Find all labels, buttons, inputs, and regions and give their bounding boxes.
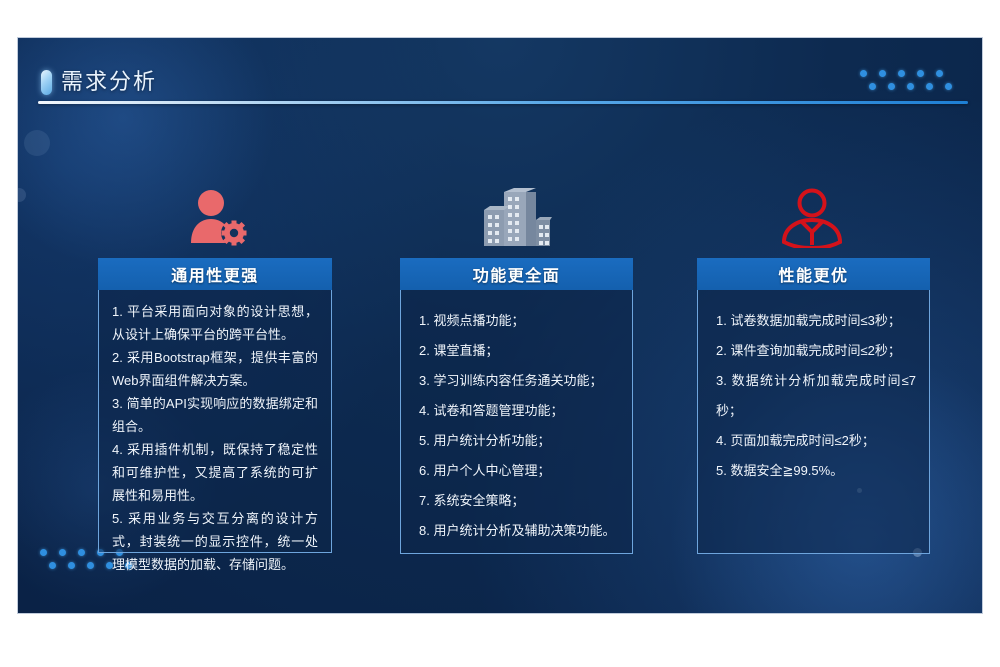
card-line: 1. 视频点播功能； — [419, 306, 619, 336]
grid-dot — [78, 549, 85, 556]
business-person-icon — [770, 186, 854, 248]
grid-dot — [879, 70, 886, 77]
card-line: 7. 系统安全策略； — [419, 486, 619, 516]
grid-dot — [926, 83, 933, 90]
grid-dot — [59, 549, 66, 556]
grid-dot — [869, 83, 876, 90]
page-title: 需求分析 — [61, 64, 157, 96]
grid-dot — [68, 562, 75, 569]
card-body: 1. 平台采用面向对象的设计思想，从设计上确保平台的跨平台性。 2. 采用Boo… — [99, 290, 331, 584]
card-line: 2. 课堂直播； — [419, 336, 619, 366]
card-line: 4. 采用插件机制，既保持了稳定性和可维护性，又提高了系统的可扩展性和易用性。 — [112, 438, 318, 507]
card-line: 5. 数据安全≧99.5%。 — [716, 456, 916, 486]
card-header: 功能更全面 — [400, 258, 633, 290]
feature-card-functionality: 功能更全面 1. 视频点播功能； 2. 课堂直播； 3. 学习训练内容任务通关功… — [400, 258, 633, 554]
grid-dot — [49, 562, 56, 569]
card-line: 4. 页面加载完成时间≤2秒； — [716, 426, 916, 456]
card-title: 性能更优 — [778, 262, 848, 286]
card-header: 通用性更强 — [98, 258, 332, 290]
card-line: 5. 用户统计分析功能； — [419, 426, 619, 456]
card-line: 3. 学习训练内容任务通关功能； — [419, 366, 619, 396]
card-line: 2. 采用Bootstrap框架，提供丰富的Web界面组件解决方案。 — [112, 346, 318, 392]
card-line: 2. 课件查询加载完成时间≤2秒； — [716, 336, 916, 366]
grid-dot — [945, 83, 952, 90]
card-body: 1. 试卷数据加载完成时间≤3秒； 2. 课件查询加载完成时间≤2秒； 3. 数… — [698, 290, 929, 494]
card-line: 1. 试卷数据加载完成时间≤3秒； — [716, 306, 916, 336]
pill-marker-icon — [41, 70, 52, 95]
presentation-slide: 需求分析 — [18, 38, 982, 613]
card-line: 6. 用户个人中心管理； — [419, 456, 619, 486]
card-line: 3. 简单的API实现响应的数据绑定和组合。 — [112, 392, 318, 438]
buildings-icon — [473, 186, 557, 248]
grid-dot — [898, 70, 905, 77]
dot-grid-top-right — [860, 70, 964, 90]
decorative-bubble — [24, 130, 50, 156]
card-title: 功能更全面 — [473, 262, 561, 286]
screenshot-canvas: 需求分析 — [0, 0, 1000, 667]
grid-dot — [888, 83, 895, 90]
grid-dot — [860, 70, 867, 77]
card-body: 1. 视频点播功能； 2. 课堂直播； 3. 学习训练内容任务通关功能； 4. … — [401, 290, 632, 554]
grid-dot — [40, 549, 47, 556]
card-line: 1. 平台采用面向对象的设计思想，从设计上确保平台的跨平台性。 — [112, 300, 318, 346]
grid-dot — [936, 70, 943, 77]
card-header: 性能更优 — [697, 258, 930, 290]
header-divider — [38, 101, 968, 104]
user-settings-icon — [175, 186, 259, 248]
feature-card-generality: 通用性更强 1. 平台采用面向对象的设计思想，从设计上确保平台的跨平台性。 2.… — [98, 258, 332, 553]
card-title: 通用性更强 — [171, 262, 259, 286]
card-line: 3. 数据统计分析加载完成时间≤7秒； — [716, 366, 916, 426]
feature-card-performance: 性能更优 1. 试卷数据加载完成时间≤3秒； 2. 课件查询加载完成时间≤2秒；… — [697, 258, 930, 554]
grid-dot — [917, 70, 924, 77]
card-line: 8. 用户统计分析及辅助决策功能。 — [419, 516, 619, 546]
card-line: 4. 试卷和答题管理功能； — [419, 396, 619, 426]
grid-dot — [87, 562, 94, 569]
card-line: 5. 采用业务与交互分离的设计方式，封装统一的显示控件，统一处理模型数据的加载、… — [112, 507, 318, 576]
grid-dot — [907, 83, 914, 90]
